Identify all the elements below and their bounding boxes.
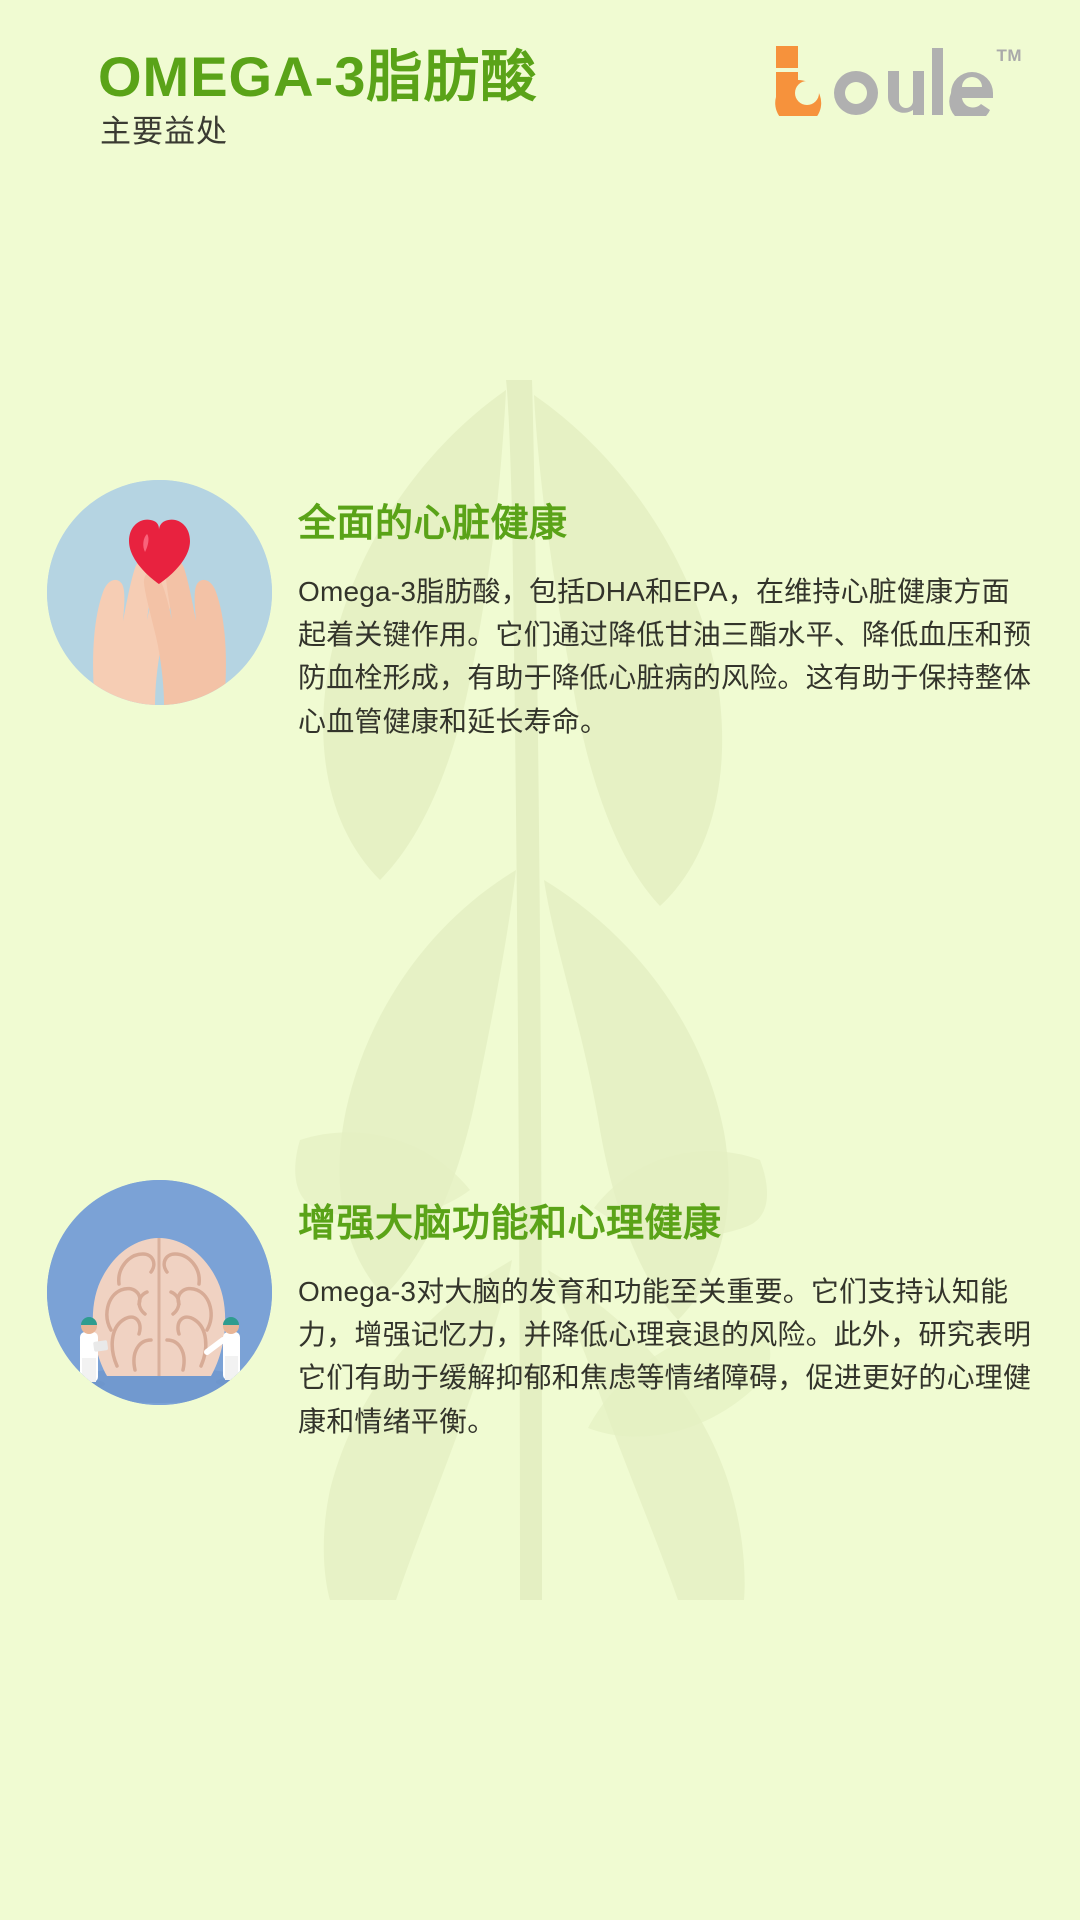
hands-holding-heart-photo [47,480,272,705]
benefit-section-heart: 全面的心脏健康 Omega-3脂肪酸，包括DHA和EPA，在维持心脏健康方面起着… [0,480,1080,743]
boule-wordmark-icon [774,42,994,116]
section-body: 全面的心脏健康 Omega-3脂肪酸，包括DHA和EPA，在维持心脏健康方面起着… [270,502,1080,743]
page-subtitle: 主要益处 [100,115,537,149]
section-paragraph: Omega-3对大脑的发育和功能至关重要。它们支持认知能力，增强记忆力，并降低心… [298,1270,1034,1444]
boule-logo[interactable]: TM [774,42,1022,116]
section-heading: 全面的心脏健康 [298,502,1034,548]
benefit-section-brain: 增强大脑功能和心理健康 Omega-3对大脑的发育和功能至关重要。它们支持认知能… [0,1180,1080,1443]
title-block: OMEGA-3脂肪酸 主要益处 [98,48,537,149]
section-paragraph: Omega-3脂肪酸，包括DHA和EPA，在维持心脏健康方面起着关键作用。它们通… [298,570,1034,744]
page-title: OMEGA-3脂肪酸 [98,48,537,107]
section-heading: 增强大脑功能和心理健康 [298,1202,1034,1248]
section-body: 增强大脑功能和心理健康 Omega-3对大脑的发育和功能至关重要。它们支持认知能… [270,1202,1080,1443]
section-image-wrap [0,1180,270,1405]
brain-illustration [47,1180,272,1405]
page-header: OMEGA-3脂肪酸 主要益处 TM [0,0,1080,190]
hands-heart-illustration [47,480,272,705]
section-image-wrap [0,480,270,705]
brain-model-with-figures-photo [47,1180,272,1405]
trademark-symbol: TM [996,46,1022,66]
